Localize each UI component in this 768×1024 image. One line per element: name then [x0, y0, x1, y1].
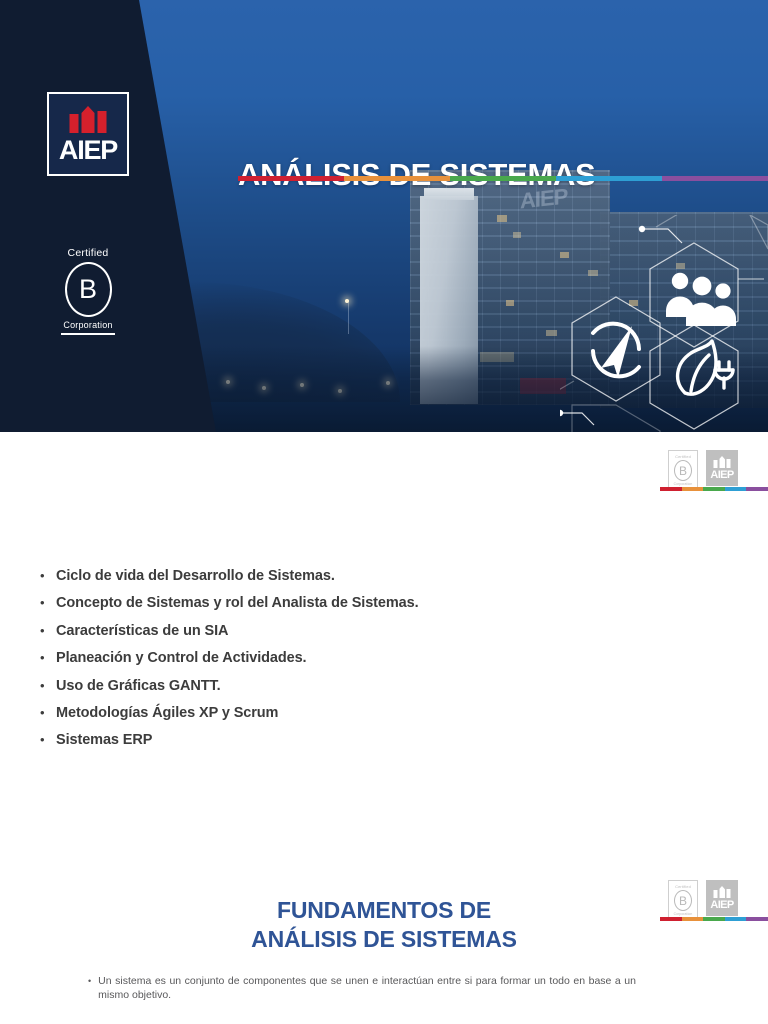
- list-item-label: Planeación y Control de Actividades.: [56, 650, 306, 667]
- slide2-brandmark: Certified B Corporation AIEP: [668, 450, 738, 490]
- bcorp-badge: Certified B Corporation: [55, 247, 121, 335]
- bullet-marker-icon: •: [40, 569, 56, 582]
- list-item-label: Un sistema es un conjunto de componentes…: [98, 974, 636, 1002]
- lamp-pole: [348, 300, 349, 334]
- list-item-label: Características de un SIA: [56, 623, 228, 640]
- list-item: • Uso de Gráficas GANTT.: [40, 678, 640, 695]
- rainbow-segment-4: [746, 487, 768, 491]
- agenda-bullet-list: • Ciclo de vida del Desarrollo de Sistem…: [40, 568, 640, 760]
- list-item: • Características de un SIA: [40, 623, 640, 640]
- fundamentos-title-line2: ANÁLISIS DE SISTEMAS: [0, 925, 768, 954]
- aiep-mark-small: AIEP: [706, 450, 738, 486]
- list-item: • Sistemas ERP: [40, 732, 640, 749]
- bcorp-small-top: Certified: [669, 884, 697, 889]
- window-light: [513, 232, 521, 238]
- hexagon-icon-cluster: [560, 215, 768, 432]
- window-light: [497, 215, 507, 222]
- bcorp-top-label: Certified: [55, 247, 121, 259]
- window-light: [506, 300, 514, 306]
- rainbow-segment-4: [662, 176, 768, 181]
- aiep-buildings-icon-small: [714, 456, 731, 468]
- rainbow-divider-hero: [238, 176, 768, 181]
- fundamentos-title: FUNDAMENTOS DE ANÁLISIS DE SISTEMAS: [0, 896, 768, 954]
- node-dot: [560, 410, 563, 416]
- list-item-label: Concepto de Sistemas y rol del Analista …: [56, 595, 419, 612]
- rainbow-segment-3: [725, 487, 747, 491]
- aiep-logo-wordmark: AIEP: [49, 135, 127, 166]
- bullet-marker-icon: •: [40, 733, 56, 746]
- compass-needle-icon: [601, 326, 632, 378]
- rainbow-segment-3: [556, 176, 662, 181]
- rainbow-segment-0: [660, 487, 682, 491]
- rainbow-segment-2: [450, 176, 556, 181]
- street-light: [345, 299, 349, 303]
- list-item-label: Sistemas ERP: [56, 732, 152, 749]
- aiep-wordmark-small: AIEP: [706, 469, 738, 481]
- people-group-icon: [666, 273, 736, 326]
- bcorp-small-top: Certified: [669, 454, 697, 459]
- rainbow-segment-1: [682, 487, 704, 491]
- rainbow-divider-slide2: [660, 487, 768, 491]
- bullet-marker-icon: •: [40, 651, 56, 664]
- bullet-marker-icon: •: [40, 679, 56, 692]
- fundamentos-body: • Un sistema es un conjunto de component…: [88, 974, 636, 1002]
- list-item-label: Metodologías Ágiles XP y Scrum: [56, 705, 278, 722]
- bullet-marker-icon: •: [40, 706, 56, 719]
- hero-slide: AIEP: [0, 0, 768, 432]
- presentation-page: AIEP: [0, 0, 768, 1024]
- rainbow-segment-0: [238, 176, 344, 181]
- bcorp-small-b-icon: B: [674, 460, 692, 481]
- bullet-marker-icon: •: [40, 624, 56, 637]
- bcorp-bottom-label: Corporation: [55, 320, 121, 330]
- hero-title: ANÁLISIS DE SISTEMAS: [238, 157, 595, 193]
- list-item-label: Uso de Gráficas GANTT.: [56, 678, 221, 695]
- window-light: [546, 330, 557, 336]
- fundamentos-slide: Certified B Corporation AIEP FUNDAMENTOS…: [0, 862, 768, 1024]
- list-item: • Metodologías Ágiles XP y Scrum: [40, 705, 640, 722]
- rainbow-segment-2: [703, 487, 725, 491]
- agenda-slide: Certified B Corporation AIEP • Ciclo de …: [0, 432, 768, 862]
- bullet-marker-icon: •: [88, 974, 91, 989]
- bcorp-underline: [61, 333, 115, 335]
- list-item-label: Ciclo de vida del Desarrollo de Sistemas…: [56, 568, 335, 585]
- aiep-buildings-icon: [70, 105, 107, 133]
- list-item: • Concepto de Sistemas y rol del Analist…: [40, 595, 640, 612]
- bcorp-mark-small: Certified B Corporation: [668, 450, 698, 490]
- rainbow-segment-1: [344, 176, 450, 181]
- leaf-plug-energy-icon: [678, 341, 733, 394]
- node-dot: [639, 226, 645, 232]
- list-item: • Ciclo de vida del Desarrollo de Sistem…: [40, 568, 640, 585]
- aiep-logo: AIEP: [47, 92, 129, 176]
- list-item: • Un sistema es un conjunto de component…: [88, 974, 636, 1002]
- hero-left-panel: [0, 0, 230, 432]
- bcorp-b-icon: B: [65, 262, 112, 317]
- list-item: • Planeación y Control de Actividades.: [40, 650, 640, 667]
- bullet-marker-icon: •: [40, 596, 56, 609]
- fundamentos-title-line1: FUNDAMENTOS DE: [0, 896, 768, 925]
